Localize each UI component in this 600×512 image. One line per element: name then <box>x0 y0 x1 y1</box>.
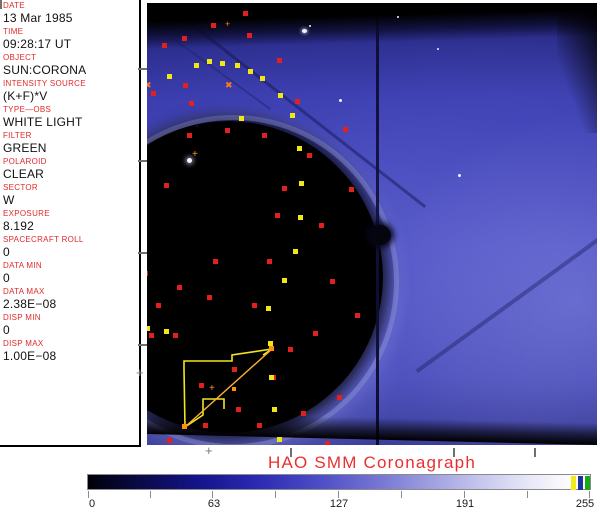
axis-plus-left: + <box>136 368 144 378</box>
metadata-value-time: 09:28:17 UT <box>3 37 139 51</box>
marker-red <box>182 36 187 41</box>
marker-red <box>243 11 248 16</box>
marker-yellow <box>220 61 225 66</box>
marker-yellow <box>277 437 282 442</box>
metadata-label-type-obs: TYPE—OBS <box>3 105 139 115</box>
marker-yellow <box>194 63 199 68</box>
metadata-item-filter: FILTER GREEN <box>3 131 139 155</box>
marker-red <box>203 423 208 428</box>
marker-red <box>162 43 167 48</box>
colorbar-tick <box>401 491 402 498</box>
marker-yellow <box>167 74 172 79</box>
marker-red <box>149 333 154 338</box>
marker-red <box>330 279 335 284</box>
marker-red <box>355 313 360 318</box>
metadata-label-data-max: DATA MAX <box>3 287 139 297</box>
metadata-item-disp-min: DISP MIN 0 <box>3 313 139 337</box>
marker-red <box>236 407 241 412</box>
colorbar-tick <box>88 491 89 498</box>
metadata-label-data-min: DATA MIN <box>3 261 139 271</box>
metadata-item-type-obs: TYPE—OBS WHITE LIGHT <box>3 105 139 129</box>
marker-red <box>147 271 148 276</box>
marker-red <box>343 127 348 132</box>
marker-red <box>187 133 192 138</box>
marker-red <box>257 423 262 428</box>
metadata-label-filter: FILTER <box>3 131 139 141</box>
colorbar-tick <box>212 491 213 498</box>
metadata-item-sector: SECTOR W <box>3 183 139 207</box>
colorbar-label-63: 63 <box>208 498 220 510</box>
marker-yellow <box>147 326 150 331</box>
metadata-label-intensity-source: INTENSITY SOURCE <box>3 79 139 89</box>
marker-red <box>275 213 280 218</box>
marker-red <box>267 259 272 264</box>
marker-yellow <box>164 329 169 334</box>
marker-yellow <box>290 113 295 118</box>
colorbar-label-0: 0 <box>89 498 95 510</box>
colorbar-stripe-green <box>585 476 590 490</box>
metadata-label-spacecraft-roll: SPACECRAFT ROLL <box>3 235 139 245</box>
marker-red <box>262 133 267 138</box>
marker-red <box>167 438 172 443</box>
coronagraph-image[interactable]: + + ✖ ✖ + <box>147 3 597 445</box>
marker-x-inner: ✖ <box>225 81 233 89</box>
marker-yellow <box>207 59 212 64</box>
marker-red <box>225 128 230 133</box>
marker-red <box>173 333 178 338</box>
marker-yellow <box>269 375 274 380</box>
metadata-label-disp-min: DISP MIN <box>3 313 139 323</box>
colorbar-tick <box>589 491 590 498</box>
metadata-item-disp-max: DISP MAX 1.00E−08 <box>3 339 139 363</box>
marker-red <box>282 186 287 191</box>
marker-red <box>164 183 169 188</box>
polygon-center-plus: + <box>192 151 198 159</box>
marker-yellow <box>293 249 298 254</box>
marker-red <box>156 303 161 308</box>
marker-red <box>252 303 257 308</box>
colorbar-stripe-yellow <box>571 476 576 490</box>
metadata-sidebar: DATE 13 Mar 1985 TIME 09:28:17 UT OBJECT… <box>0 0 141 447</box>
page-title: HAO SMM Coronagraph <box>147 453 597 473</box>
region-center-plus: + <box>209 385 215 393</box>
marker-red <box>207 295 212 300</box>
metadata-item-date: DATE 13 Mar 1985 <box>3 1 139 25</box>
marker-red <box>199 383 204 388</box>
metadata-value-disp-max: 1.00E−08 <box>3 349 139 363</box>
metadata-value-intensity-source: (K+F)*V <box>3 89 139 103</box>
marker-yellow <box>272 407 277 412</box>
metadata-value-polaroid: CLEAR <box>3 167 139 181</box>
metadata-item-exposure: EXPOSURE 8.192 <box>3 209 139 233</box>
metadata-label-exposure: EXPOSURE <box>3 209 139 219</box>
metadata-value-data-min: 0 <box>3 271 139 285</box>
marker-red <box>232 367 237 372</box>
marker-red <box>325 441 330 445</box>
colorbar-tick <box>150 491 151 498</box>
marker-red <box>319 223 324 228</box>
axis-tick-left <box>138 344 147 346</box>
marker-yellow <box>298 215 303 220</box>
marker-red <box>337 395 342 400</box>
marker-red <box>213 259 218 264</box>
metadata-item-data-min: DATA MIN 0 <box>3 261 139 285</box>
colorbar-tick <box>527 491 528 498</box>
metadata-value-filter: GREEN <box>3 141 139 155</box>
metadata-label-sector: SECTOR <box>3 183 139 193</box>
marker-red <box>247 33 252 38</box>
marker-yellow <box>268 341 273 346</box>
colorbar-label-127: 127 <box>330 498 348 510</box>
colorbar-stripe-blue <box>578 476 583 490</box>
region-polygon-annotation <box>147 3 597 445</box>
marker-red <box>183 83 188 88</box>
metadata-value-sector: W <box>3 193 139 207</box>
marker-yellow <box>239 116 244 121</box>
marker-yellow <box>282 278 287 283</box>
colorbar-tick <box>275 491 276 498</box>
marker-red <box>288 347 293 352</box>
marker-red <box>307 153 312 158</box>
marker-red <box>295 99 300 104</box>
marker-yellow <box>297 146 302 151</box>
metadata-value-data-max: 2.38E−08 <box>3 297 139 311</box>
marker-yellow <box>260 76 265 81</box>
marker-red <box>211 23 216 28</box>
axis-tick-bottom <box>0 0 2 9</box>
marker-red <box>151 91 156 96</box>
metadata-value-object: SUN:CORONA <box>3 63 139 77</box>
marker-yellow <box>299 181 304 186</box>
metadata-item-time: TIME 09:28:17 UT <box>3 27 139 51</box>
axis-tick-left <box>138 160 147 162</box>
marker-red <box>301 411 306 416</box>
metadata-label-polaroid: POLAROID <box>3 157 139 167</box>
marker-x-upper: + <box>225 20 230 28</box>
marker-yellow <box>266 306 271 311</box>
metadata-label-object: OBJECT <box>3 53 139 63</box>
colorbar-tick <box>464 491 465 498</box>
axis-tick-left <box>138 252 147 254</box>
metadata-value-date: 13 Mar 1985 <box>3 11 139 25</box>
colorbar-label-191: 191 <box>456 498 474 510</box>
metadata-item-intensity-source: INTENSITY SOURCE (K+F)*V <box>3 79 139 103</box>
marker-red <box>349 187 354 192</box>
marker-red <box>189 101 194 106</box>
marker-x-left: ✖ <box>147 81 152 89</box>
colorbar-tick <box>338 491 339 498</box>
metadata-item-spacecraft-roll: SPACECRAFT ROLL 0 <box>3 235 139 259</box>
metadata-value-exposure: 8.192 <box>3 219 139 233</box>
metadata-item-data-max: DATA MAX 2.38E−08 <box>3 287 139 311</box>
colorbar-gradient <box>87 474 591 490</box>
marker-red <box>313 331 318 336</box>
colorbar-label-255: 255 <box>576 498 594 510</box>
metadata-value-spacecraft-roll: 0 <box>3 245 139 259</box>
marker-yellow <box>248 69 253 74</box>
metadata-value-disp-min: 0 <box>3 323 139 337</box>
marker-red <box>177 285 182 290</box>
metadata-item-object: OBJECT SUN:CORONA <box>3 53 139 77</box>
marker-red <box>277 58 282 63</box>
axis-tick-left <box>138 68 147 70</box>
metadata-value-type-obs: WHITE LIGHT <box>3 115 139 129</box>
colorbar: 0 63 127 191 255 <box>87 474 591 512</box>
metadata-label-date: DATE <box>3 1 139 11</box>
metadata-label-disp-max: DISP MAX <box>3 339 139 349</box>
metadata-item-polaroid: POLAROID CLEAR <box>3 157 139 181</box>
marker-yellow <box>278 93 283 98</box>
marker-yellow <box>235 63 240 68</box>
metadata-label-time: TIME <box>3 27 139 37</box>
